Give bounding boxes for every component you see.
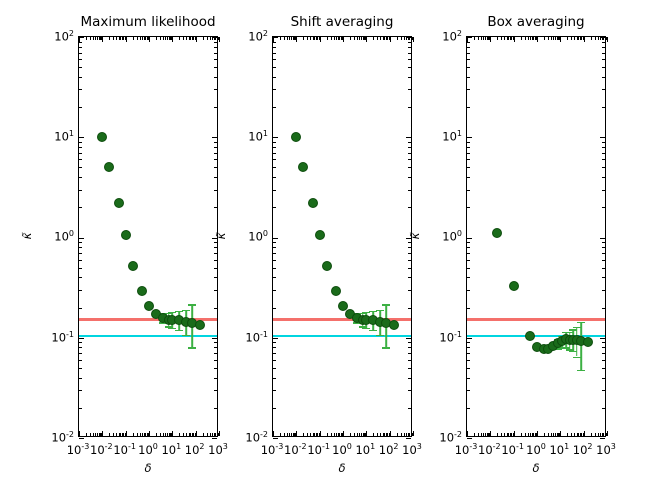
x-tick-major [537,431,538,436]
y-tick-minor [602,368,605,369]
x-tick-label: 102 [573,442,593,457]
y-tick-minor [602,268,605,269]
y-tick-minor [467,67,470,68]
y-tick-minor [602,142,605,143]
x-tick-minor [600,433,601,436]
x-tick-minor [595,37,596,40]
x-tick-minor [553,37,554,40]
x-tick-minor [591,433,592,436]
x-tick-minor [598,433,599,436]
x-tick-minor [571,433,572,436]
x-tick-minor [595,433,596,436]
y-tick-minor [602,347,605,348]
x-tick-minor [504,433,505,436]
data-point [583,337,593,347]
y-tick-minor [602,147,605,148]
y-tick-minor [602,42,605,43]
y-axis-label-3: κ̃ [408,221,422,251]
y-tick-major [600,338,605,339]
x-tick-major [514,37,515,42]
x-tick-minor [481,433,482,436]
x-tick-minor [567,433,568,436]
x-tick-minor [501,37,502,40]
x-tick-minor [481,37,482,40]
x-tick-major [467,37,468,42]
y-tick-minor [602,253,605,254]
y-tick-minor [467,277,470,278]
y-tick-label: 102 [420,29,462,44]
y-tick-minor [467,378,470,379]
x-tick-major [584,431,585,436]
x-tick-minor [571,37,572,40]
y-tick-minor [467,77,470,78]
y-tick-minor [467,89,470,90]
y-tick-minor [602,260,605,261]
y-tick-minor [467,59,470,60]
x-axis-label-3: δ [532,461,539,475]
x-tick-minor [574,433,575,436]
x-tick-major [537,37,538,42]
y-tick-minor [602,107,605,108]
x-tick-minor [591,37,592,40]
x-tick-major [560,37,561,42]
y-tick-minor [602,77,605,78]
y-tick-minor [467,347,470,348]
y-tick-major [467,137,472,138]
y-tick-minor [467,342,470,343]
x-tick-minor [483,37,484,40]
x-tick-minor [530,37,531,40]
x-tick-minor [521,37,522,40]
x-tick-minor [528,37,529,40]
y-tick-label: 100 [420,229,462,244]
chart-panel-3: Box averaging10-210-110010110210-310-210… [0,0,654,480]
y-tick-minor [602,207,605,208]
x-tick-label: 103 [596,442,616,457]
x-tick-minor [478,433,479,436]
y-tick-minor [602,342,605,343]
y-tick-label: 10-1 [420,329,462,344]
y-tick-minor [467,190,470,191]
x-tick-label: 10-1 [501,442,524,457]
y-tick-minor [602,67,605,68]
x-tick-label: 100 [526,442,546,457]
x-tick-major [490,37,491,42]
y-tick-minor [467,408,470,409]
y-tick-minor [602,59,605,60]
y-tick-major [600,137,605,138]
y-tick-major [467,238,472,239]
y-tick-minor [467,253,470,254]
x-tick-minor [544,37,545,40]
error-bar-cap [573,327,581,329]
x-tick-label: 10-2 [478,442,501,457]
error-bar-cap [577,370,585,372]
y-tick-label: 101 [420,129,462,144]
x-tick-minor [600,37,601,40]
y-tick-minor [467,47,470,48]
upper-reference-line-3 [467,318,605,320]
error-bar-cap [577,322,585,324]
x-tick-minor [507,433,508,436]
x-tick-minor [544,433,545,436]
y-tick-minor [467,177,470,178]
y-tick-minor [602,353,605,354]
x-tick-minor [525,433,526,436]
x-tick-minor [474,37,475,40]
y-tick-minor [467,360,470,361]
y-tick-minor [467,159,470,160]
y-tick-minor [467,147,470,148]
x-tick-minor [574,37,575,40]
y-tick-minor [602,153,605,154]
x-tick-minor [474,433,475,436]
y-tick-minor [602,360,605,361]
y-tick-minor [467,167,470,168]
y-tick-minor [602,47,605,48]
x-tick-minor [504,37,505,40]
y-tick-minor [602,277,605,278]
x-tick-minor [598,37,599,40]
data-point [509,281,519,291]
y-tick-minor [467,268,470,269]
x-tick-minor [525,37,526,40]
data-point [492,228,502,238]
y-tick-minor [467,207,470,208]
y-tick-minor [467,53,470,54]
x-tick-major [584,37,585,42]
y-tick-minor [602,242,605,243]
y-tick-minor [467,290,470,291]
plot-area-3 [466,36,606,437]
data-point [525,331,535,341]
x-tick-minor [553,433,554,436]
y-tick-minor [467,142,470,143]
y-tick-minor [602,247,605,248]
y-tick-minor [602,177,605,178]
x-tick-minor [548,37,549,40]
x-tick-minor [483,433,484,436]
y-tick-minor [467,153,470,154]
x-tick-minor [548,433,549,436]
y-tick-minor [467,353,470,354]
y-tick-minor [467,390,470,391]
x-tick-minor [551,37,552,40]
x-tick-minor [530,433,531,436]
y-tick-minor [602,390,605,391]
x-tick-minor [577,37,578,40]
figure-canvas: Maximum likelihood10-210-110010110210-31… [0,0,654,480]
x-tick-label: 101 [549,442,569,457]
x-tick-major [514,431,515,436]
x-tick-major [607,37,608,42]
x-tick-major [607,431,608,436]
y-tick-minor [602,159,605,160]
y-tick-minor [467,308,470,309]
x-tick-major [560,431,561,436]
y-tick-minor [602,89,605,90]
y-tick-minor [467,260,470,261]
x-tick-major [490,431,491,436]
x-tick-minor [497,433,498,436]
y-tick-minor [602,378,605,379]
x-tick-label: 10-3 [455,442,478,457]
y-tick-major [600,238,605,239]
panel-title-3: Box averaging [466,14,606,30]
x-tick-minor [501,433,502,436]
x-tick-major [467,431,468,436]
x-tick-minor [528,433,529,436]
x-tick-minor [551,433,552,436]
x-tick-minor [521,433,522,436]
y-tick-minor [467,107,470,108]
y-tick-minor [602,53,605,54]
error-bar-cap [573,357,581,359]
y-tick-major [467,338,472,339]
y-tick-minor [602,190,605,191]
y-tick-minor [467,242,470,243]
x-tick-minor [567,37,568,40]
y-tick-minor [602,167,605,168]
x-tick-minor [577,433,578,436]
x-tick-minor [478,37,479,40]
y-tick-minor [467,247,470,248]
y-tick-minor [467,368,470,369]
x-tick-minor [497,37,498,40]
y-tick-minor [602,308,605,309]
y-tick-major [467,438,472,439]
x-tick-minor [507,37,508,40]
y-tick-major [600,438,605,439]
plot-clip-3 [467,37,605,436]
y-tick-minor [602,290,605,291]
y-tick-minor [602,408,605,409]
